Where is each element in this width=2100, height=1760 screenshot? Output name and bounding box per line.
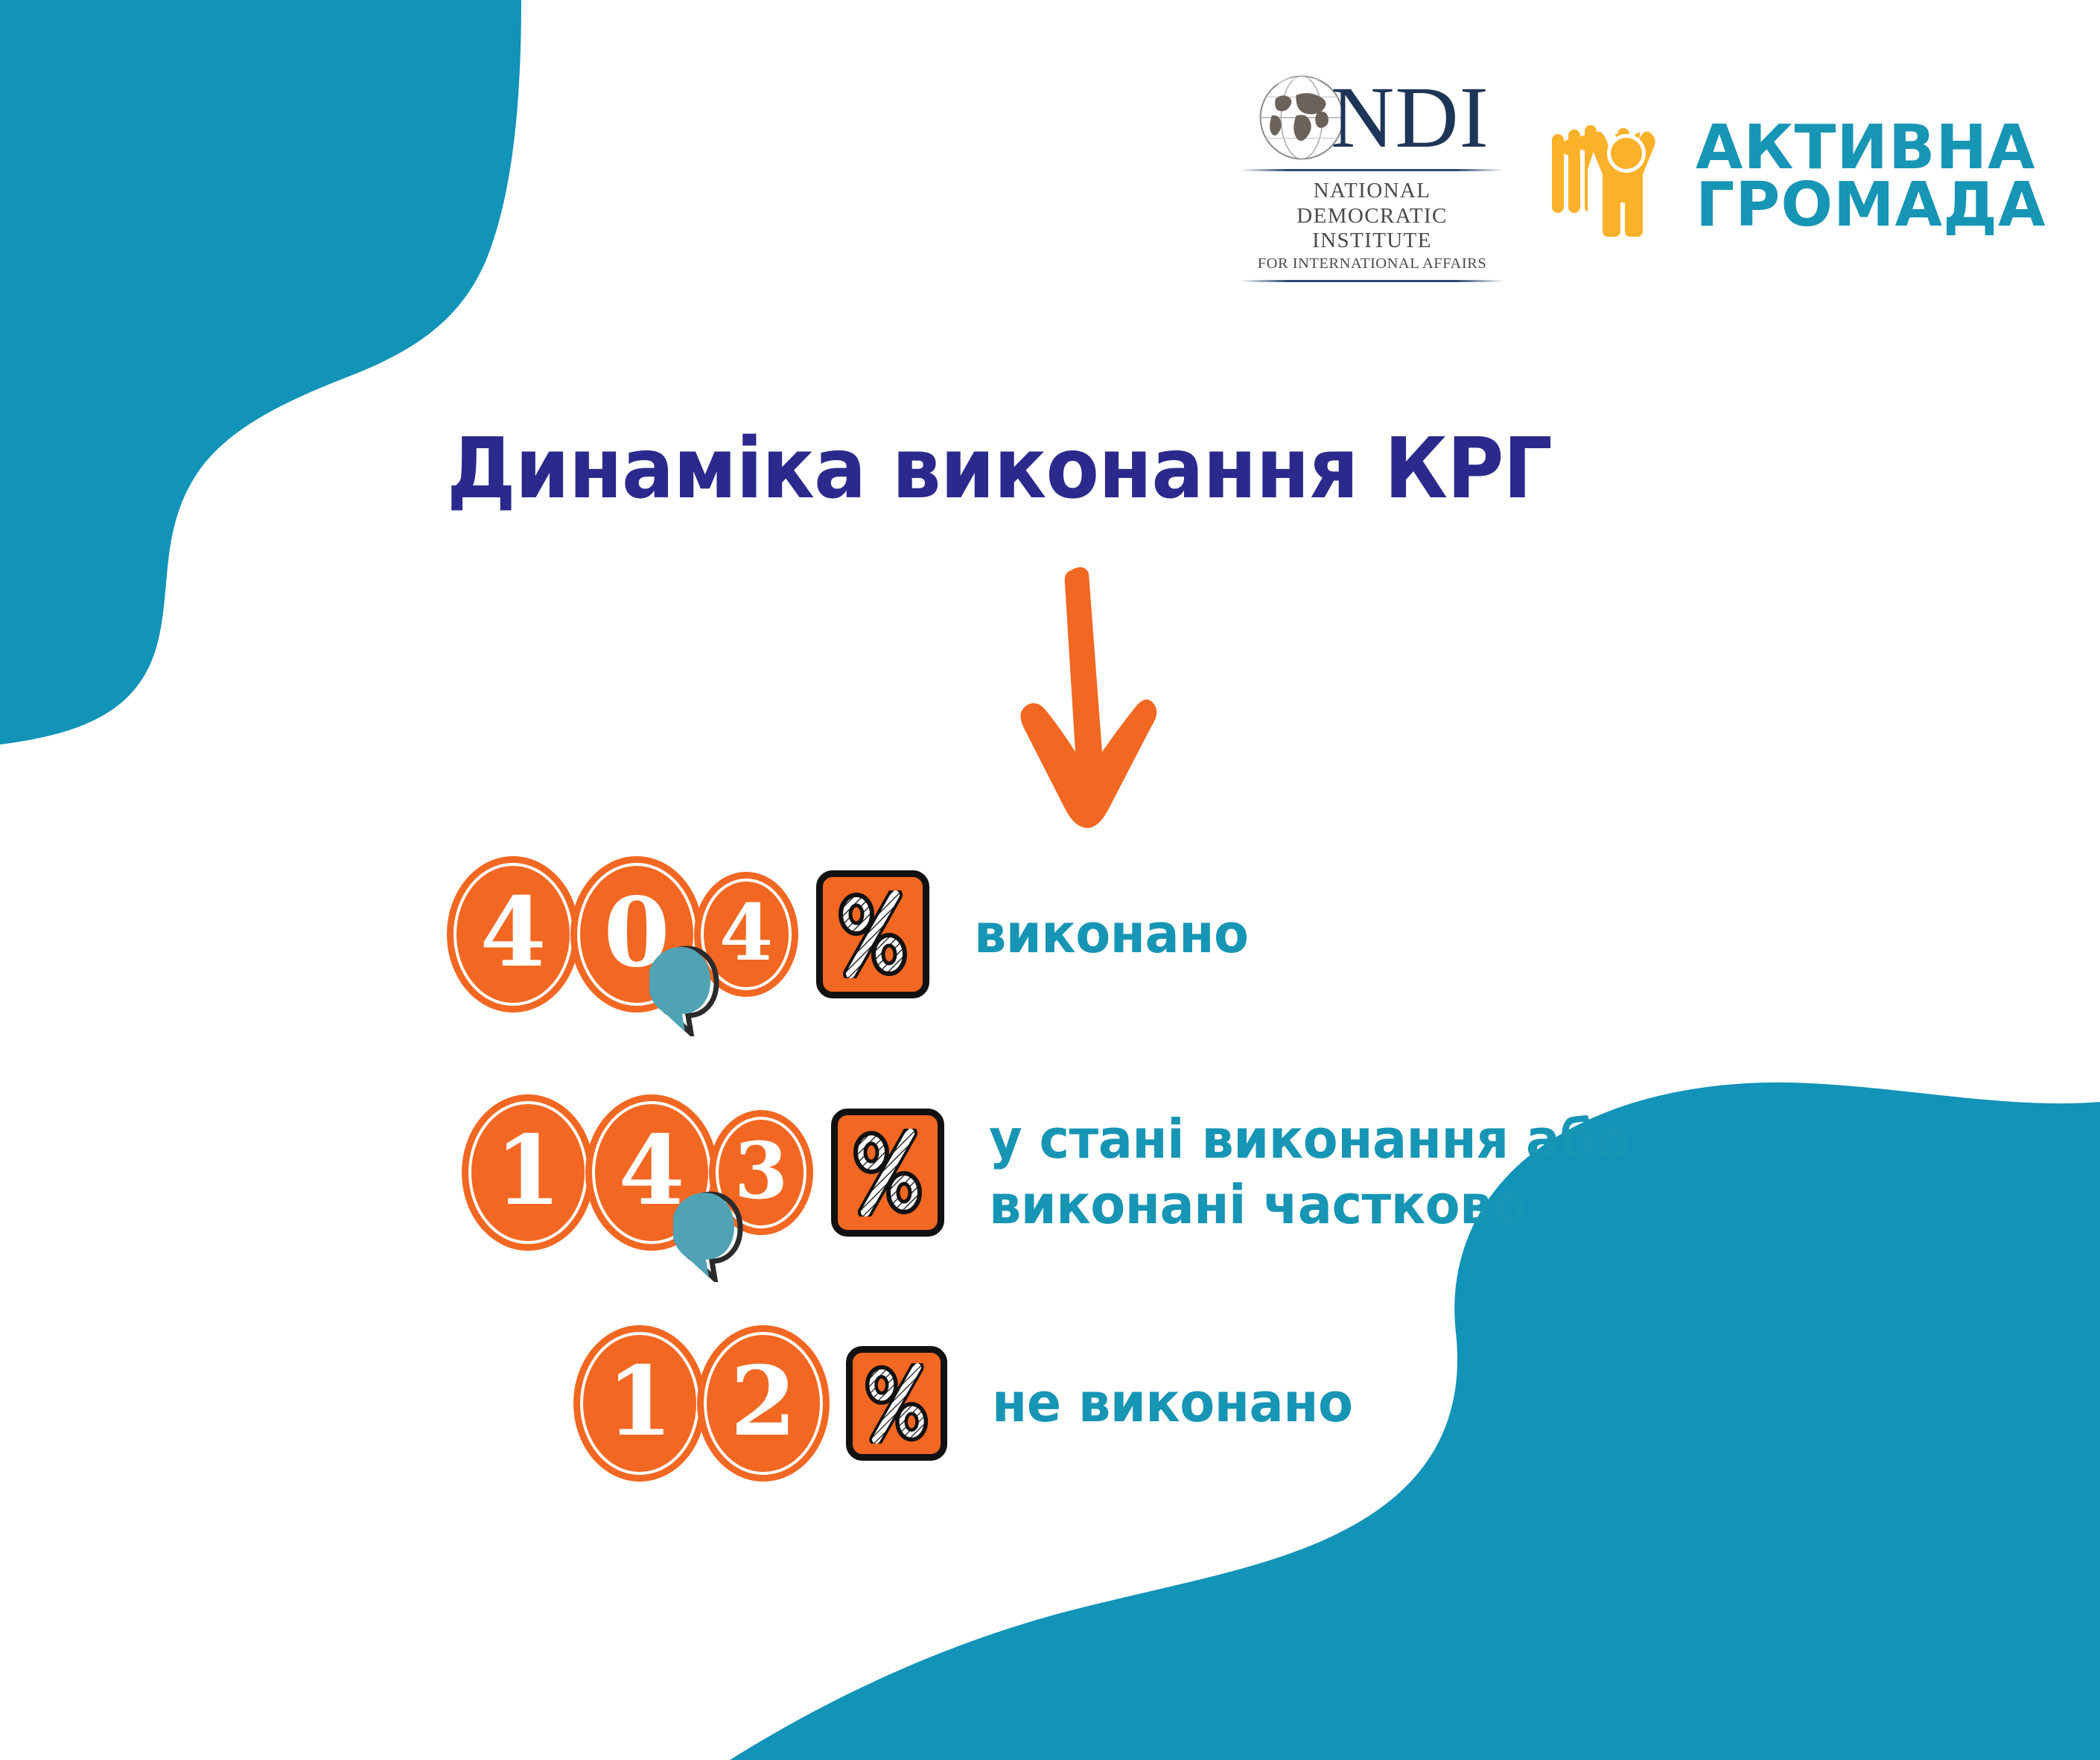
digit-circle: 1 [462,1094,594,1251]
stat-label: у стані виконання або виконані частково [989,1107,1629,1238]
ndi-subtitle-line2: DEMOCRATIC [1258,204,1487,229]
ndi-acronym: NDI [1331,74,1489,162]
stat-digits: 1 2 [573,1325,821,1482]
comma-speech-bubble-icon [649,944,721,1036]
percent-icon [849,1129,926,1217]
percent-icon [834,890,911,978]
digit-value: 1 [606,1354,672,1450]
ag-line-2: ГРОМАДА [1696,176,2046,234]
stat-row: 1 4 3 [462,1094,1664,1251]
digit-value: 4 [480,885,546,981]
teal-blob-top-left [0,0,521,745]
stat-label: не виконано [992,1371,1353,1436]
arrow-down-container [990,566,1177,838]
ndi-logo: NDI NATIONAL DEMOCRATIC INSTITUTE FOR IN… [1240,71,1504,282]
digit-value: 1 [494,1123,561,1219]
arrow-down-icon [990,566,1177,834]
stat-row: 4 0 4 [447,856,1263,1013]
active-community-wordmark: АКТИВНА ГРОМАДА [1696,119,2046,234]
digit-value: 2 [730,1354,796,1450]
ndi-subtitle: NATIONAL DEMOCRATIC INSTITUTE FOR INTERN… [1258,179,1487,273]
active-community-logo: АКТИВНА ГРОМАДА [1549,107,2046,245]
ndi-subtitle-line3: INSTITUTE [1258,229,1487,254]
ndi-divider-bottom [1240,280,1504,282]
digit-circle: 1 [573,1325,706,1482]
raised-hands-crowd-icon [1549,107,1679,245]
ag-line-1: АКТИВНА [1696,119,2046,176]
stat-digits: 1 4 3 [462,1094,806,1251]
page-title: Динаміка виконання КРГ [447,421,1552,517]
digit-circle: 4 [447,856,579,1013]
stat-digits: 4 0 4 [447,856,791,1013]
stat-label: виконано [974,902,1248,967]
ndi-subtitle-line1: NATIONAL [1258,179,1487,204]
digit-value: 4 [719,894,773,972]
percent-badge [816,870,929,998]
percent-badge [846,1346,947,1461]
logo-strip: NDI NATIONAL DEMOCRATIC INSTITUTE FOR IN… [1240,71,2046,282]
ndi-divider-top [1240,169,1504,171]
digit-circle: 2 [697,1325,830,1482]
stat-row: 1 2 не виконано [573,1325,1372,1482]
ndi-subtitle-line4: FOR INTERNATIONAL AFFAIRS [1258,255,1487,273]
comma-speech-bubble-icon [673,1190,745,1282]
percent-icon [861,1363,932,1444]
percent-badge [831,1109,944,1237]
